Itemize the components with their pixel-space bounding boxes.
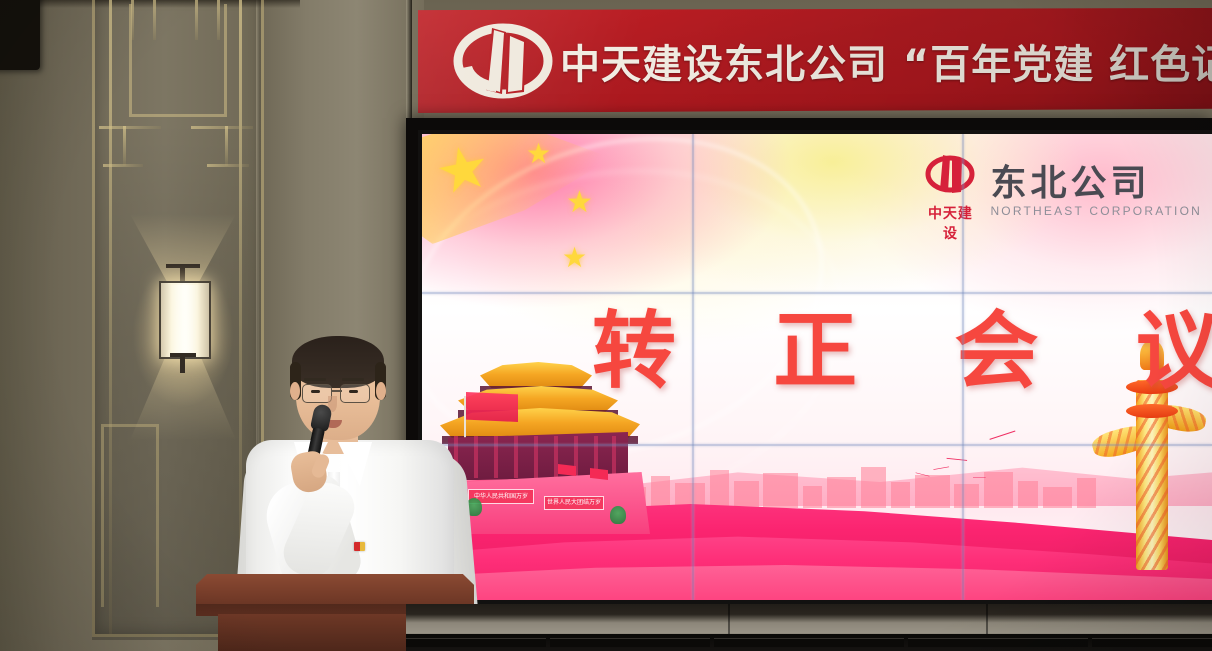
city-skyline: [612, 446, 1102, 508]
gate-shrub-3: [610, 506, 626, 524]
gate-plaque-right: 世界人民大团结万岁: [544, 496, 604, 510]
slide-company-logo: 中天建设 东北公司 NORTHEAST CORPORATION: [922, 152, 1202, 243]
slide-logo-mark-label: 中天建设: [922, 203, 978, 243]
stage-slat-5: [1092, 638, 1212, 647]
zhongtian-logo-icon: [448, 22, 558, 100]
meeting-room-photo: 中天建设东北公司 “百年党建 红色记忆” 党日活动 ★ ★ ★ ★: [0, 0, 1212, 651]
slide-logo-mark: 中天建设: [922, 152, 978, 243]
video-wall-display[interactable]: ★ ★ ★ ★: [422, 134, 1212, 600]
eyeglasses-bridge-icon: [332, 390, 342, 392]
panel-seam-vertical-1: [692, 134, 694, 600]
huabiao-ring-1: [1126, 404, 1178, 418]
panel-seam-horizontal-1: [422, 292, 1212, 294]
flag-star-1: ★: [526, 140, 551, 168]
speaker-brow-right: [342, 378, 364, 381]
wall-speaker-device: [0, 0, 40, 70]
event-banner: 中天建设东北公司 “百年党建 红色记忆” 党日活动: [418, 8, 1212, 113]
stage-slat-2: [550, 638, 710, 647]
speaker-eye-left: [311, 390, 320, 393]
panel-seam-horizontal-2: [422, 444, 1212, 446]
gate-roof-top: [480, 362, 592, 388]
sconce-stem: [180, 353, 185, 373]
eyeglasses-right-lens-icon: [340, 384, 370, 403]
flag-star-2: ★: [566, 188, 593, 218]
flag-star-3: ★: [562, 244, 587, 272]
slide-logo-cn: 东北公司: [990, 154, 1202, 206]
party-emblem-badge: [354, 542, 365, 551]
slide-logo-text-block: 东北公司 NORTHEAST CORPORATION: [990, 152, 1202, 218]
slide-logo-en: NORTHEAST CORPORATION: [990, 204, 1202, 218]
stage-slat-3: [714, 638, 904, 647]
speaker-eye-right: [349, 390, 358, 393]
slide-title: 转 正 会 议: [592, 284, 1212, 405]
speaker-ear-left: [290, 382, 300, 400]
wall-sconce-lamp: [159, 281, 211, 359]
banner-text: 中天建设东北公司 “百年党建 红色记忆” 党日活动: [560, 32, 1212, 90]
stage-slat-1: [406, 638, 546, 647]
panel-seam-vertical-2: [962, 134, 964, 600]
stage-slat-4: [908, 638, 1088, 647]
speaker-ear-right: [376, 382, 386, 400]
speaker-brow-left: [304, 378, 326, 381]
bird-icon-5: ⸺: [973, 474, 986, 482]
